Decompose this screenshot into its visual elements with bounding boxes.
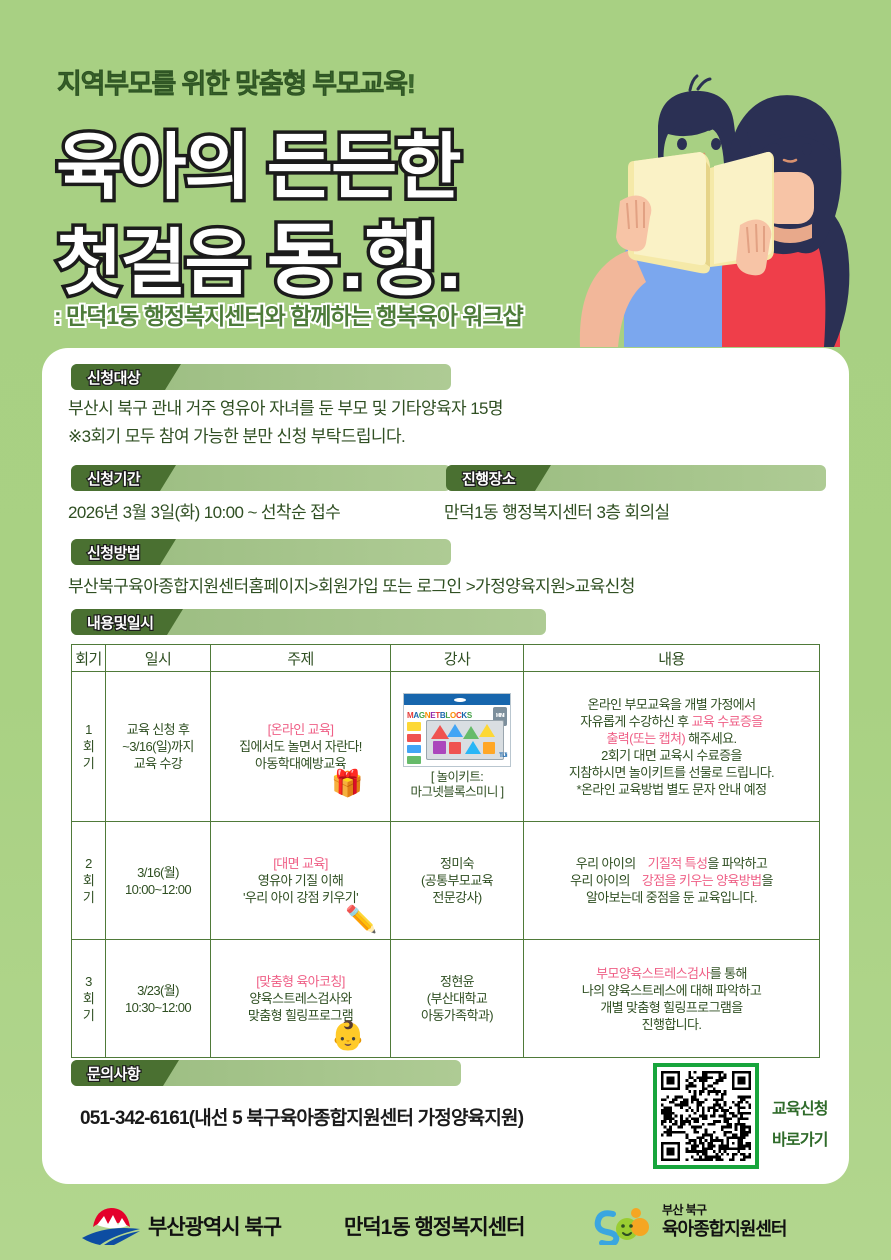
inquiry-phone: 051-342-6161(내선 5 북구육아종합지원센터 가정양육지원) xyxy=(80,1103,523,1130)
content-text: 2회기 대면 교육시 수료증을 xyxy=(601,748,742,763)
content-line: 개별 맞춤형 힐링프로그램을 xyxy=(527,999,816,1016)
couple-reading-book-illustration xyxy=(572,72,872,347)
block-square xyxy=(449,742,461,754)
cell-topic-2: [대면 교육] 영유아 기질 이해 '우리 아이 강점 키우기' ✏️ xyxy=(211,822,391,940)
logo-center-big: 육아종합지원센터 xyxy=(662,1219,786,1240)
logo-label-mandeok: 만덕1동 행정복지센터 xyxy=(344,1211,524,1241)
content-highlight: 기질적 특성 xyxy=(648,856,708,871)
content-highlight: 교육 수료증을 xyxy=(692,714,763,729)
table-row: 1 회 기 교육 신청 후 ~3/16(일)까지 교육 수강 [온라인 교육] … xyxy=(72,672,820,822)
section-label-period: 신청기간 xyxy=(71,465,451,491)
topic-wrap: [맞춤형 육아코칭] 양육스트레스검사와 맞춤형 힐링프로그램 👶 xyxy=(214,973,387,1024)
section-label-target: 신청대상 xyxy=(71,364,451,390)
period-value: 2026년 3월 3일(화) 10:00 ~ 선착순 접수 xyxy=(68,500,340,526)
content-line: 2회기 대면 교육시 수료증을 xyxy=(527,747,816,764)
content-line: 온라인 부모교육을 개별 가정에서 xyxy=(527,696,816,713)
place-value: 만덕1동 행정복지센터 3층 회의실 xyxy=(444,500,670,526)
datetime-line: ~3/16(일)까지 xyxy=(109,738,207,755)
content-text: 온라인 부모교육을 개별 가정에서 xyxy=(587,697,755,712)
datetime-line: 10:30~12:00 xyxy=(109,999,207,1016)
section-label-place-text: 진행장소 xyxy=(462,468,515,489)
content-line: 나의 양육스트레스에 대해 파악하고 xyxy=(527,982,816,999)
lecturer-name: 정미숙 xyxy=(394,855,520,872)
table-row: 2 회 기 3/16(월) 10:00~12:00 [대면 교육] 영유아 기질… xyxy=(72,822,820,940)
session-digit: 1 xyxy=(75,721,102,738)
cell-datetime-1: 교육 신청 후 ~3/16(일)까지 교육 수강 xyxy=(106,672,211,822)
block-triangle xyxy=(479,724,495,737)
topic-wrap: [대면 교육] 영유아 기질 이해 '우리 아이 강점 키우기' ✏️ xyxy=(214,855,387,906)
datetime-line: 3/16(월) xyxy=(109,864,207,881)
cell-session-1: 1 회 기 xyxy=(72,672,106,822)
section-label-schedule: 내용및일시 xyxy=(71,609,546,635)
busan-bukgu-emblem xyxy=(80,1205,142,1245)
content-line: 우리 아이의ㅤ강점을 키우는 양육방법을 xyxy=(527,872,816,889)
content-text: 우리 아이의ㅤ xyxy=(570,873,642,888)
datetime-line: 10:00~12:00 xyxy=(109,881,207,898)
session-char: 기 xyxy=(75,1007,102,1024)
schedule-table: 회기 일시 주제 강사 내용 1 회 기 교육 신청 후 xyxy=(71,644,820,1058)
content-line: 알아보는데 중점을 둔 교육입니다. xyxy=(527,889,816,906)
session-char: 회 xyxy=(75,872,102,889)
datetime-line: 교육 수강 xyxy=(109,755,207,772)
topic-heading: [대면 교육] xyxy=(214,855,387,872)
cell-lecturer-1: MAGNETBLOCKS MINI xyxy=(391,672,524,822)
cell-lecturer-2: 정미숙 (공통부모교육 전문강사) xyxy=(391,822,524,940)
content-line: 부모양육스트레스검사를 통해 xyxy=(527,965,816,982)
th-content: 내용 xyxy=(524,645,820,672)
cell-topic-1: [온라인 교육] 집에서도 놀면서 자란다! 아동학대예방교육 🎁 xyxy=(211,672,391,822)
section-label-inquiry: 문의사항 xyxy=(71,1060,461,1086)
content-text: 지참하시면 놀이키트를 선물로 드립니다. xyxy=(569,765,774,780)
qr-label-line2: 바로가기 xyxy=(772,1126,828,1150)
cell-session-3: 3 회 기 xyxy=(72,940,106,1058)
magnet-blocks-product-photo: MAGNETBLOCKS MINI xyxy=(403,693,511,767)
content-text: 을 파악하고 xyxy=(707,856,767,871)
poster-header: 지역부모를 위한 맞춤형 부모교육! 육아의 든든한 첫걸음 동.행. : 만덕… xyxy=(0,0,891,345)
content-line: 출력(또는 캡쳐) 해주세요. xyxy=(527,730,816,747)
session-char: 회 xyxy=(75,738,102,755)
lecturer-affiliation: 아동가족학과) xyxy=(394,1007,520,1024)
content-text: 진행합니다. xyxy=(642,1017,702,1032)
method-value: 부산북구육아종합지원센터홈페이지>회원가입 또는 로그인 >가정양육지원>교육신… xyxy=(68,574,635,600)
content-text: 을 xyxy=(762,873,773,888)
lecturer-affiliation: 전문강사) xyxy=(394,889,520,906)
content-text: 알아보는데 중점을 둔 교육입니다. xyxy=(586,890,757,905)
topic-heading: [온라인 교육] xyxy=(214,721,387,738)
content-line: 우리 아이의ㅤ기질적 특성을 파악하고 xyxy=(527,855,816,872)
datetime-line: 3/23(월) xyxy=(109,982,207,999)
datetime-line: 교육 신청 후 xyxy=(109,721,207,738)
baby-face-emoji: 👶 xyxy=(331,1022,365,1050)
content-line: 진행합니다. xyxy=(527,1016,816,1033)
th-lecturer: 강사 xyxy=(391,645,524,672)
target-line2: ※3회기 모두 참여 가능한 분만 신청 부탁드립니다. xyxy=(68,424,405,450)
block-triangle xyxy=(465,741,481,754)
content-text: 자유롭게 수강하신 후 xyxy=(580,714,691,729)
topic-line: 영유아 기질 이해 xyxy=(214,872,387,889)
header-subtitle: : 만덕1동 행정복지센터와 함께하는 행복육아 워크샵 xyxy=(54,297,523,331)
product-swatch xyxy=(407,756,421,764)
product-swatch xyxy=(407,745,421,753)
th-session: 회기 xyxy=(72,645,106,672)
section-label-method-text: 신청방법 xyxy=(87,542,140,563)
product-caption-line: 마그넷블록스미니 ] xyxy=(394,785,520,800)
content-text: 를 통해 xyxy=(710,966,747,981)
content-text: *온라인 교육방법 별도 문자 안내 예정 xyxy=(577,782,767,797)
lecturer-name: 정현윤 xyxy=(394,973,520,990)
pencil-emoji: ✏️ xyxy=(345,906,377,932)
content-text: 나의 양육스트레스에 대해 파악하고 xyxy=(582,983,761,998)
qr-label-line1: 교육신청 xyxy=(772,1095,828,1119)
header-title-line2-a: 첫걸음 xyxy=(56,224,249,304)
topic-wrap: [온라인 교육] 집에서도 놀면서 자란다! 아동학대예방교육 🎁 xyxy=(214,721,387,772)
cell-topic-3: [맞춤형 육아코칭] 양육스트레스검사와 맞춤형 힐링프로그램 👶 xyxy=(211,940,391,1058)
content-text: 우리 아이의ㅤ xyxy=(576,856,648,871)
block-triangle xyxy=(447,724,463,737)
topic-line: 양육스트레스검사와 xyxy=(214,990,387,1007)
childcare-center-logo xyxy=(593,1205,655,1245)
session-digit: 2 xyxy=(75,855,102,872)
target-line1: 부산시 북구 관내 거주 영유아 자녀를 둔 부모 및 기타양육자 15명 xyxy=(68,396,503,422)
gift-box-emoji: 🎁 xyxy=(331,770,363,796)
content-text: 해주세요. xyxy=(685,731,736,746)
logo-label-busan-bukgu: 부산광역시 북구 xyxy=(148,1211,281,1241)
topic-line: 집에서도 놀면서 자란다! xyxy=(214,738,387,755)
cell-content-2: 우리 아이의ㅤ기질적 특성을 파악하고 우리 아이의ㅤ강점을 키우는 양육방법을… xyxy=(524,822,820,940)
product-swatch xyxy=(407,722,421,731)
block-square xyxy=(483,742,495,754)
table-header-row: 회기 일시 주제 강사 내용 xyxy=(72,645,820,672)
section-label-period-text: 신청기간 xyxy=(87,468,140,489)
logo-strip: 부산광역시 북구 만덕1동 행정복지센터 부산 북구 육아종합지원센터 xyxy=(0,1193,891,1255)
header-kicker: 지역부모를 위한 맞춤형 부모교육! xyxy=(57,62,415,101)
cell-content-3: 부모양육스트레스검사를 통해 나의 양육스트레스에 대해 파악하고 개별 맞춤형… xyxy=(524,940,820,1058)
lecturer-affiliation: (공통부모교육 xyxy=(394,872,520,889)
session-digit: 3 xyxy=(75,973,102,990)
cell-lecturer-3: 정현윤 (부산대학교 아동가족학과) xyxy=(391,940,524,1058)
section-label-method: 신청방법 xyxy=(71,539,451,565)
cell-content-1: 온라인 부모교육을 개별 가정에서 자유롭게 수강하신 후 교육 수료증을 출력… xyxy=(524,672,820,822)
session-char: 기 xyxy=(75,889,102,906)
logo-center-small: 부산 북구 xyxy=(662,1203,707,1217)
product-brand: TiJi xyxy=(499,748,507,765)
cell-session-2: 2 회 기 xyxy=(72,822,106,940)
content-line: 자유롭게 수강하신 후 교육 수료증을 xyxy=(527,713,816,730)
content-line: 지참하시면 놀이키트를 선물로 드립니다. xyxy=(527,764,816,781)
product-swatch xyxy=(407,734,421,742)
content-highlight: 강점을 키우는 양육방법 xyxy=(642,873,762,888)
section-label-schedule-text: 내용및일시 xyxy=(87,612,154,633)
content-text: 개별 맞춤형 힐링프로그램을 xyxy=(600,1000,742,1015)
th-datetime: 일시 xyxy=(106,645,211,672)
block-square xyxy=(433,741,446,754)
cell-datetime-3: 3/23(월) 10:30~12:00 xyxy=(106,940,211,1058)
lecturer-affiliation: (부산대학교 xyxy=(394,990,520,1007)
product-caption-line: [ 놀이키트: xyxy=(394,770,520,785)
qr-code-education-application[interactable] xyxy=(653,1063,759,1169)
cell-datetime-2: 3/16(월) 10:00~12:00 xyxy=(106,822,211,940)
product-tray xyxy=(426,720,504,760)
section-label-target-text: 신청대상 xyxy=(87,367,140,388)
block-triangle xyxy=(463,726,479,739)
section-label-inquiry-text: 문의사항 xyxy=(87,1063,140,1084)
qr-canvas xyxy=(661,1071,751,1161)
header-title-line2: 첫걸음 동.행. xyxy=(56,196,462,312)
product-top-bar xyxy=(404,694,510,705)
session-char: 기 xyxy=(75,755,102,772)
header-title-line2-b: 동.행. xyxy=(267,216,463,305)
content-highlight: 출력(또는 캡쳐) xyxy=(606,731,685,746)
table-row: 3 회 기 3/23(월) 10:30~12:00 [맞춤형 육아코칭] 양육스… xyxy=(72,940,820,1058)
th-topic: 주제 xyxy=(211,645,391,672)
poster-root: 지역부모를 위한 맞춤형 부모교육! 육아의 든든한 첫걸음 동.행. : 만덕… xyxy=(0,0,891,1260)
content-card: 신청대상 부산시 북구 관내 거주 영유아 자녀를 둔 부모 및 기타양육자 1… xyxy=(42,348,849,1184)
content-line: *온라인 교육방법 별도 문자 안내 예정 xyxy=(527,781,816,798)
topic-heading: [맞춤형 육아코칭] xyxy=(214,973,387,990)
section-label-place: 진행장소 xyxy=(446,465,826,491)
session-char: 회 xyxy=(75,990,102,1007)
content-highlight: 부모양육스트레스검사 xyxy=(596,966,710,981)
